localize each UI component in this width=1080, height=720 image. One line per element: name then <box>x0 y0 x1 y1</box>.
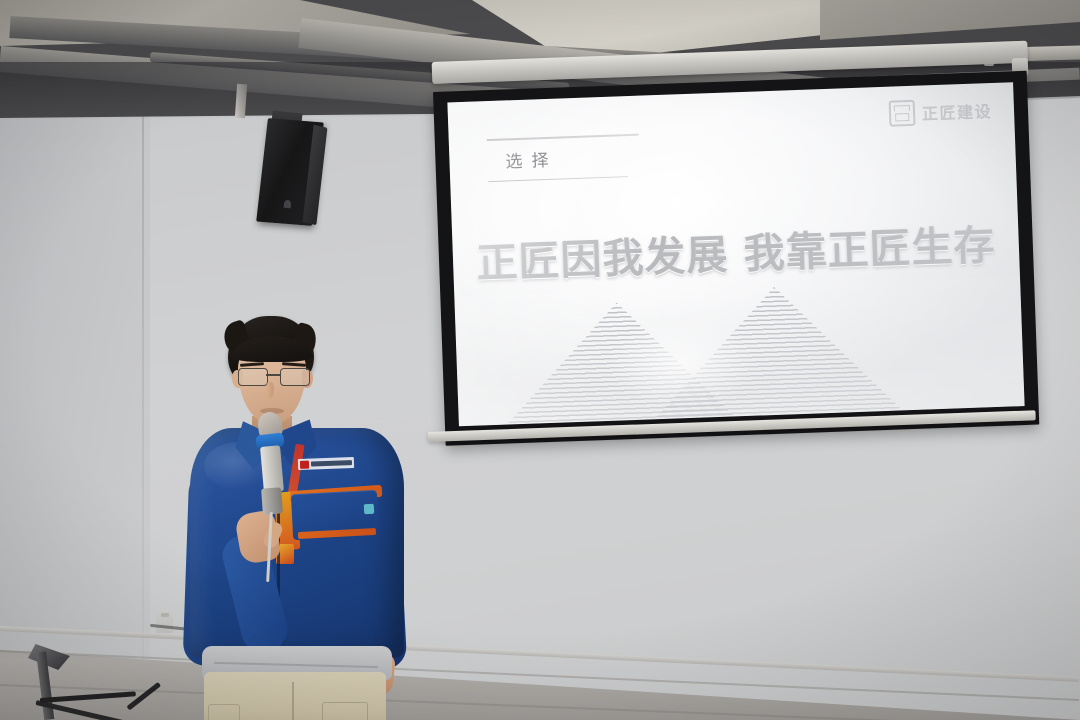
projection-screen: 正匠建设 选择 正匠因我发展 我靠正匠生存 <box>433 71 1039 446</box>
cargo-pocket <box>208 704 240 720</box>
building-mark-icon <box>889 100 916 127</box>
chest-logo-mark-icon <box>300 460 309 468</box>
wall-outlet-slot <box>161 613 169 617</box>
speaker-logo-icon <box>284 200 292 209</box>
presentation-photo: 正匠建设 选择 正匠因我发展 我靠正匠生存 <box>0 0 1080 720</box>
slide-surface: 正匠建设 选择 正匠因我发展 我靠正匠生存 <box>447 82 1024 426</box>
glasses-lens <box>280 368 310 386</box>
cargo-pocket <box>322 702 368 720</box>
chest-logo-wordmark <box>311 460 352 466</box>
glasses-lens <box>238 368 268 386</box>
section-label: 选择 <box>487 135 640 174</box>
pants-seam <box>292 682 294 720</box>
jacket-chest-logo <box>298 457 354 470</box>
presenter <box>180 316 420 720</box>
wall-corner-seam <box>142 70 144 670</box>
pyramid-haze <box>454 276 1024 426</box>
microphone-grip <box>261 487 283 514</box>
section-rule-bottom <box>488 176 628 183</box>
presenter-nose <box>266 382 274 398</box>
pyramid-building-graphic <box>454 276 1024 426</box>
left-wall <box>0 60 150 720</box>
brand-name: 正匠建设 <box>922 98 993 124</box>
slide-brand-logo: 正匠建设 <box>889 97 993 127</box>
slide-section-heading: 选择 <box>487 134 640 183</box>
microphone-body <box>260 445 284 493</box>
pocket-tag-icon <box>364 504 375 515</box>
glasses-bridge <box>266 374 280 376</box>
glasses-icon <box>236 368 310 385</box>
